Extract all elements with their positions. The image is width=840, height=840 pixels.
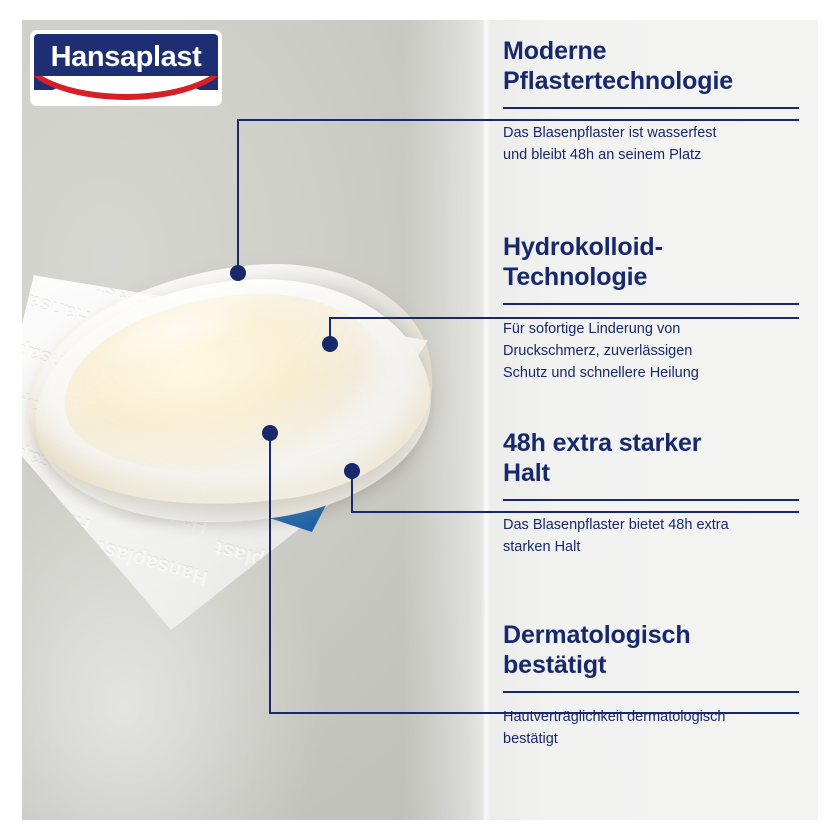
pad-inner-dome [56,280,396,487]
feature-body: Für sofortige Linderung von Druckschmerz… [503,318,803,384]
backing-watermark: Hansaplast [94,275,210,330]
logo-red-swoosh [34,76,218,102]
backing-watermark: Hansaplast [94,379,210,434]
feature-body: Das Blasenpflaster bietet 48h extra star… [503,514,803,558]
feature-block-1: Moderne Pflastertechnologie Das Blasenpf… [503,36,803,166]
feature-divider [503,691,799,693]
release-paper-backing [22,268,446,630]
release-paper-watermarks: HansaplastHansaplastHansaplastHansaplast… [22,268,446,630]
infographic-root: HansaplastHansaplastHansaplastHansaplast… [0,0,840,840]
backing-watermark: Hansaplast [212,327,328,382]
feature-heading: Dermatologisch bestätigt [503,620,803,680]
backing-watermark: Hansaplast [94,483,210,538]
backing-watermark: Hansaplast [22,268,93,278]
feature-divider [503,499,799,501]
pad-gloss-highlight [81,269,277,385]
hydrocolloid-pad [22,248,443,525]
backing-watermark: Hansaplast [212,268,328,278]
backing-watermark: Hansaplast [212,431,328,486]
content-card: HansaplastHansaplastHansaplastHansaplast… [22,20,818,820]
feature-heading: Moderne Pflastertechnologie [503,36,803,96]
backing-watermark: Hansaplast [94,535,210,590]
blister-plaster-product: HansaplastHansaplastHansaplastHansaplast… [22,20,486,820]
logo-wordmark: Hansaplast [30,41,222,74]
pad-body [22,248,443,525]
backing-watermark: Hansaplast [94,327,210,382]
backing-watermark: Hansaplast [22,535,93,590]
backing-watermark: Hansaplast [22,275,93,330]
feature-divider [503,303,799,305]
backing-watermark: Hansaplast [22,431,93,486]
feature-block-4: Dermatologisch bestätigt Hautverträglich… [503,620,803,750]
backing-watermark: Hansaplast [94,431,210,486]
feature-body: Das Blasenpflaster ist wasserfest und bl… [503,122,803,166]
release-paper-highlight [22,268,446,630]
feature-block-3: 48h extra starker Halt Das Blasenpflaste… [503,428,803,558]
backing-watermark: Hansaplast [94,268,210,278]
backing-watermark: Hansaplast [22,379,93,434]
backing-watermark: Hansaplast [212,483,328,538]
feature-heading: Hydrokolloid- Technologie [503,232,803,292]
pad-drop-shadow [50,450,411,551]
backing-watermark: Hansaplast [22,327,93,382]
plaster-liner [22,259,443,545]
feature-divider [503,107,799,109]
feature-heading: 48h extra starker Halt [503,428,803,488]
backing-watermark: Hansaplast [22,483,93,538]
product-image-panel: HansaplastHansaplastHansaplastHansaplast… [22,20,486,820]
backing-watermark: Hansaplast [212,535,328,590]
feature-block-2: Hydrokolloid- Technologie Für sofortige … [503,232,803,384]
feature-body: Hautverträglichkeit dermatologisch bestä… [503,706,803,750]
backing-watermark: Hansaplast [212,275,328,330]
backing-watermark: Hansaplast [212,379,328,434]
hansaplast-logo: Hansaplast [30,30,222,106]
blue-peel-tab [250,472,336,532]
pad-rim-highlight [22,248,443,525]
